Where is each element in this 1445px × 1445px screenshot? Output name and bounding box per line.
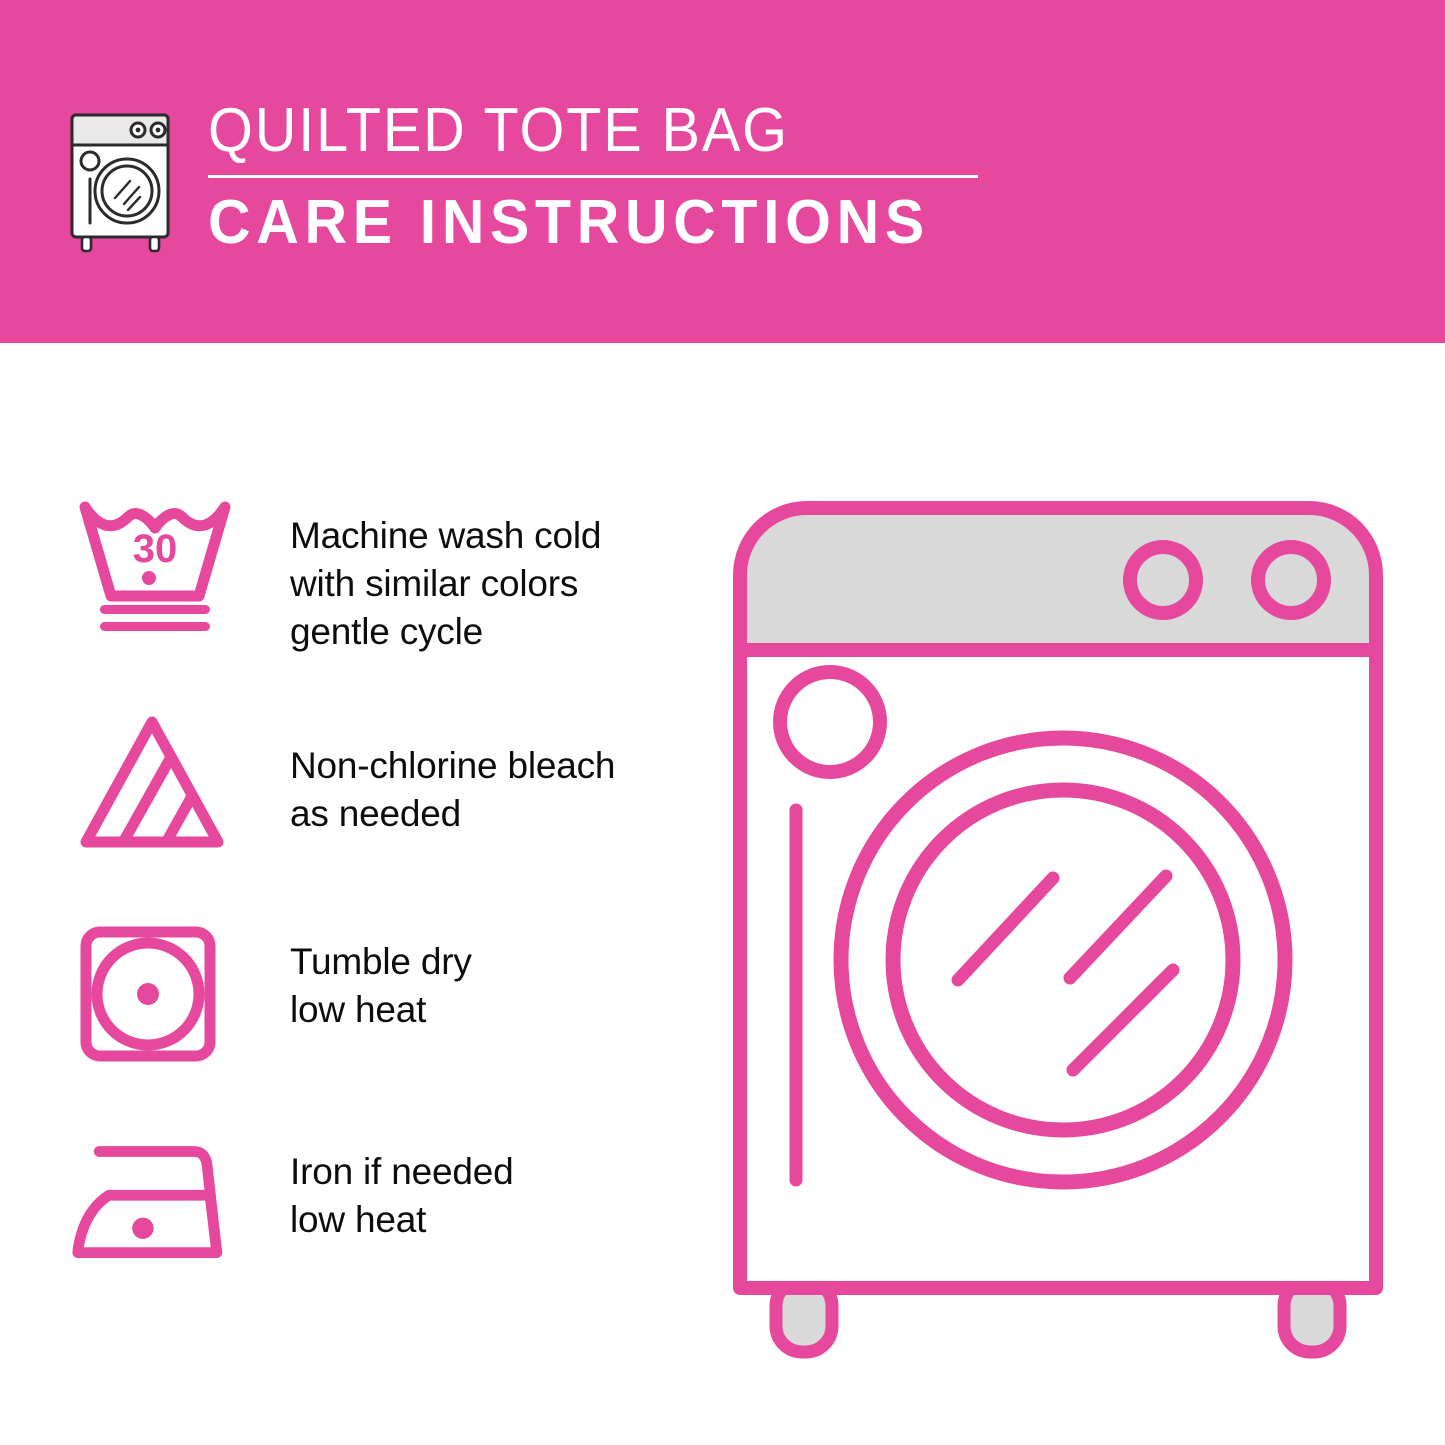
care-instructions-page: QUILTED TOTE BAG CARE INSTRUCTIONS 30 (0, 0, 1445, 1445)
wash-temperature-label: 30 (133, 527, 178, 571)
care-text-line: with similar colors (290, 560, 601, 608)
care-text-line: Iron if needed (290, 1148, 513, 1196)
care-text-line: Tumble dry (290, 938, 472, 986)
care-instruction-list: 30 Machine wash cold with similar colors… (70, 490, 690, 1330)
large-washing-machine-illustration (718, 470, 1398, 1370)
care-text-machine-wash: Machine wash cold with similar colors ge… (290, 512, 601, 656)
care-row-tumble-dry: Tumble dry low heat (70, 910, 690, 1120)
page-title: QUILTED TOTE BAG (208, 95, 924, 167)
care-text-iron: Iron if needed low heat (290, 1148, 513, 1244)
care-text-line: Non-chlorine bleach (290, 742, 615, 790)
care-row-iron: Iron if needed low heat (70, 1120, 690, 1330)
care-text-bleach: Non-chlorine bleach as needed (290, 742, 615, 838)
care-text-line: low heat (290, 986, 472, 1034)
header-content: QUILTED TOTE BAG CARE INSTRUCTIONS (60, 95, 978, 258)
tumble-dry-low-icon (70, 918, 245, 1068)
title-divider (208, 175, 978, 178)
care-text-tumble-dry: Tumble dry low heat (290, 938, 472, 1034)
header-band: QUILTED TOTE BAG CARE INSTRUCTIONS (0, 0, 1445, 343)
washing-machine-icon (60, 103, 190, 253)
page-subtitle: CARE INSTRUCTIONS (208, 188, 940, 258)
care-text-line: Machine wash cold (290, 512, 601, 560)
care-text-line: as needed (290, 790, 615, 838)
iron-low-heat-icon (70, 1134, 245, 1274)
bleach-triangle-icon (70, 708, 245, 858)
care-text-line: gentle cycle (290, 608, 601, 656)
header-title-group: QUILTED TOTE BAG CARE INSTRUCTIONS (208, 95, 978, 258)
care-row-machine-wash: 30 Machine wash cold with similar colors… (70, 490, 690, 700)
wash-tub-30-icon: 30 (70, 490, 245, 640)
care-text-line: low heat (290, 1196, 513, 1244)
care-row-bleach: Non-chlorine bleach as needed (70, 700, 690, 910)
